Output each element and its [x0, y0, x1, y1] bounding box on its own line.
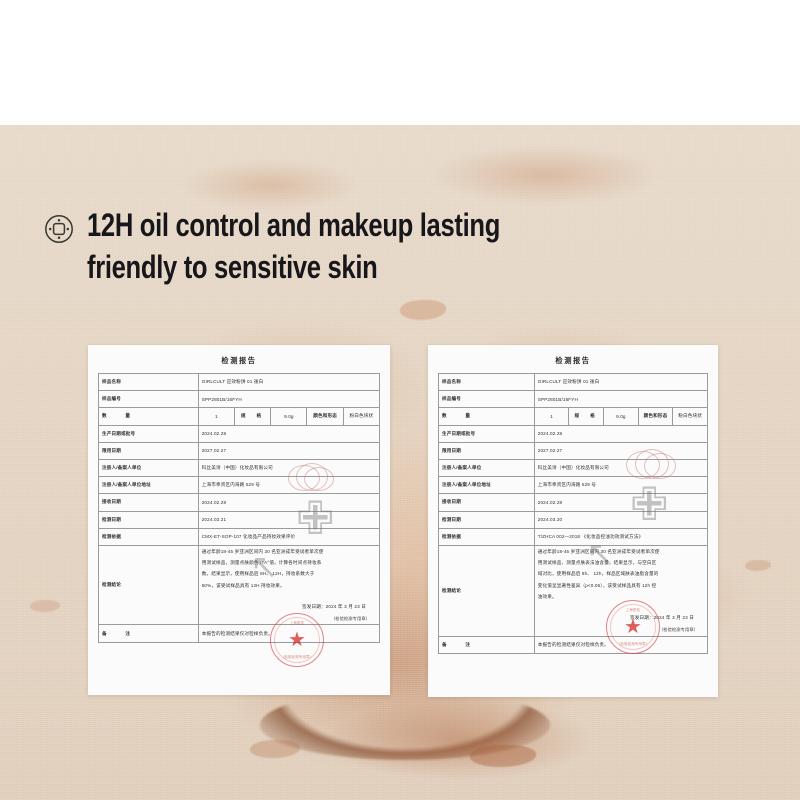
color-form-label: 颜色和形态	[307, 408, 343, 425]
row-label: 接收日期	[439, 494, 535, 511]
row-value: 2024.03.21	[198, 511, 379, 528]
row-label: 样品名称	[99, 374, 199, 391]
row-label: 限用日期	[439, 442, 535, 459]
inspection-seal-stamp: 上海质检 ★ （检验检测专用章）	[270, 613, 324, 667]
test-report-card-left: CQSMX 检测报告 样品名称GIRLCULT 应效粉饼 01 祓白 样品编号S…	[88, 345, 390, 695]
table-row: 接收日期2024.02.28	[99, 494, 380, 511]
note-label: 备 注	[99, 625, 199, 642]
spec-value: 9.0g	[271, 408, 307, 425]
row-value: 2027.02.27	[534, 442, 707, 459]
row-value: SPP2801B/16FYH	[198, 391, 379, 408]
row-label: 检测日期	[439, 511, 535, 528]
table-row: 检测依据CMX-ET-SOP-107 化妆品产品持妆效果评价	[99, 528, 380, 545]
report-table: 样品名称GIRLCULT 应效粉饼 01 祓白 样品编号SPP2801B/16F…	[98, 373, 380, 643]
table-row-conclusion: 检测结论 通过年龄18-45 岁亚洲区间内 30 名亚洲成年受试者单次使 用测试…	[439, 545, 708, 636]
conclusion-line: 通过年龄18-45 岁亚洲区间内 30 名亚洲成年受试者单次使	[538, 549, 660, 554]
table-row-note: 备 注 本报告的检测结果仅对检样负责。	[99, 625, 380, 642]
spec-label: 规 格	[234, 408, 270, 425]
table-row-conclusion: 检测结论 通过年龄18-45 岁亚洲区间内 30 名亚洲成年受试者单次使 用测试…	[99, 545, 380, 625]
table-row: 检测依据T/ZHCA 002—2018 《化妆品控油功效测试方法》	[439, 528, 708, 545]
table-row: 数 量 1 规 格 9.0g 颜色和形态 粉白色块状	[439, 408, 708, 425]
spec-label: 规 格	[569, 408, 604, 425]
row-label: 生产日期或批号	[439, 425, 535, 442]
row-value: 2024.02.28	[198, 494, 379, 511]
test-report-card-right: CQSMX CQSMX 检测报告 样品名称GIRLCULT 应效粉饼 01 祓白…	[428, 345, 718, 697]
seal-top-text: 上海质检	[607, 607, 659, 612]
table-row: 数 量 1 规 格 9.0g 颜色和形态 粉白色块状	[99, 408, 380, 425]
row-value: 科丝美诗（中国）化妆品有限公司	[534, 459, 707, 476]
row-value: GIRLCULT 应效粉饼 01 祓白	[198, 374, 379, 391]
table-row: 样品名称GIRLCULT 应效粉饼 01 祓白	[99, 374, 380, 391]
table-row: 注册人/备案人单位地址上海市奉贤区内海路 529 号	[99, 477, 380, 494]
color-form-label: 颜色和形态	[638, 408, 673, 425]
row-value: 2024.02.28	[534, 494, 707, 511]
conclusion-line: 域对比，使用样品后 8h、 12h，样品区域肤表油脂含量的	[538, 571, 659, 576]
table-row: 注册人/备案人单位科丝美诗（中国）化妆品有限公司	[99, 459, 380, 476]
signature-date: 签发日期：2024 年 3 月 23 日	[202, 601, 376, 612]
table-row: 样品名称GIRLCULT 应效粉饼 01 祓白	[439, 374, 708, 391]
row-value: 2024.03.20	[534, 511, 707, 528]
seal-top-text: 上海质检	[271, 620, 323, 625]
powder-smear	[430, 145, 660, 205]
row-value: 2024.02.28	[198, 425, 379, 442]
report-title: 检测报告	[438, 356, 708, 366]
table-row: 生产日期或批号2024.02.28	[99, 425, 380, 442]
table-row: 注册人/备案人单位地址上海市奉贤区内海路 529 号	[439, 477, 708, 494]
report-title: 检测报告	[98, 356, 380, 366]
row-label: 样品名称	[439, 374, 535, 391]
row-label: 注册人/备案人单位地址	[99, 477, 199, 494]
table-row: 限用日期2027.02.27	[439, 442, 708, 459]
powder-smear	[180, 160, 360, 210]
row-value: T/ZHCA 002—2018 《化妆品控油功效测试方法》	[534, 528, 707, 545]
color-form-value: 粉白色块状	[343, 408, 379, 425]
table-row: 样品编号SPP2801B/16FYH	[99, 391, 380, 408]
quantity-value: 1	[198, 408, 234, 425]
row-value: 科丝美诗（中国）化妆品有限公司	[198, 459, 379, 476]
product-detail-image: 12H oil control and makeup lasting frien…	[0, 0, 800, 800]
inspection-seal-stamp: 上海质检 ★ （检验检测专用章）	[606, 600, 660, 654]
row-label: 数 量	[99, 408, 199, 425]
row-value: 2024.02.28	[534, 425, 707, 442]
table-row: 检测日期2024.03.21	[99, 511, 380, 528]
row-value: 2027.02.27	[198, 442, 379, 459]
row-label: 注册人/备案人单位地址	[439, 477, 535, 494]
row-value: SPP2801B/16FYH	[534, 391, 707, 408]
conclusion-label: 检测结论	[99, 545, 199, 625]
headline-block: 12H oil control and makeup lasting frien…	[44, 205, 764, 288]
color-form-value: 粉白色块状	[673, 408, 708, 425]
table-row: 样品编号SPP2801B/16FYH	[439, 391, 708, 408]
conclusion-line: 数。结果显示，使用样品后 8H、 12H，持妆系数大于	[202, 571, 315, 576]
row-label: 检测依据	[99, 528, 199, 545]
row-value: GIRLCULT 应效粉饼 01 祓白	[534, 374, 707, 391]
conclusion-line: 用测试样品，测量点肤颜色 ITA°值，计算各时间点持妆系	[202, 560, 322, 565]
row-label: 接收日期	[99, 494, 199, 511]
table-row: 注册人/备案人单位科丝美诗（中国）化妆品有限公司	[439, 459, 708, 476]
quantity-value: 1	[534, 408, 569, 425]
table-row: 生产日期或批号2024.02.28	[439, 425, 708, 442]
report-table: 样品名称GIRLCULT 应效粉饼 01 祓白 样品编号SPP2801B/16F…	[438, 373, 708, 654]
coin-target-icon	[44, 214, 74, 244]
row-label: 样品编号	[99, 391, 199, 408]
conclusion-line: 用测试样品，测量点肤表法油含量，结果显示，与空白区	[538, 560, 657, 565]
conclusion-label: 检测结论	[439, 545, 535, 636]
row-value: 上海市奉贤区内海路 529 号	[534, 477, 707, 494]
row-label: 限用日期	[99, 442, 199, 459]
row-value: CMX-ET-SOP-107 化妆品产品持妆效果评价	[198, 528, 379, 545]
row-label: 数 量	[439, 408, 535, 425]
table-row: 检测日期2024.03.20	[439, 511, 708, 528]
row-label: 检测依据	[439, 528, 535, 545]
table-row-note: 备 注 本报告的检测结果仅对检样负责。	[439, 636, 708, 653]
seal-label-text: （检验检测专用章）	[607, 641, 659, 646]
row-label: 注册人/备案人单位	[99, 459, 199, 476]
page-title: 12H oil control and makeup lasting frien…	[87, 205, 599, 288]
row-label: 生产日期或批号	[99, 425, 199, 442]
conclusion-line: 通过年龄18-45 岁亚洲区间内 30 名亚洲成年受试者单次使	[202, 549, 324, 554]
row-label: 检测日期	[99, 511, 199, 528]
row-label: 注册人/备案人单位	[439, 459, 535, 476]
conclusion-line: 50%，该受试样品具有 12H 持妆效果。	[202, 583, 285, 588]
row-label: 样品编号	[439, 391, 535, 408]
conclusion-line: 变化值呈显著性差异（p<0.05），该受试样品具有 12h 控	[538, 583, 657, 588]
seal-label-text: （检验检测专用章）	[271, 654, 323, 659]
conclusion-line: 油效果。	[538, 594, 557, 599]
powder-smear	[330, 700, 590, 780]
table-row: 限用日期2027.02.27	[99, 442, 380, 459]
spec-value: 9.0g	[604, 408, 639, 425]
table-row: 接收日期2024.02.28	[439, 494, 708, 511]
row-value: 上海市奉贤区内海路 529 号	[198, 477, 379, 494]
note-label: 备 注	[439, 636, 535, 653]
